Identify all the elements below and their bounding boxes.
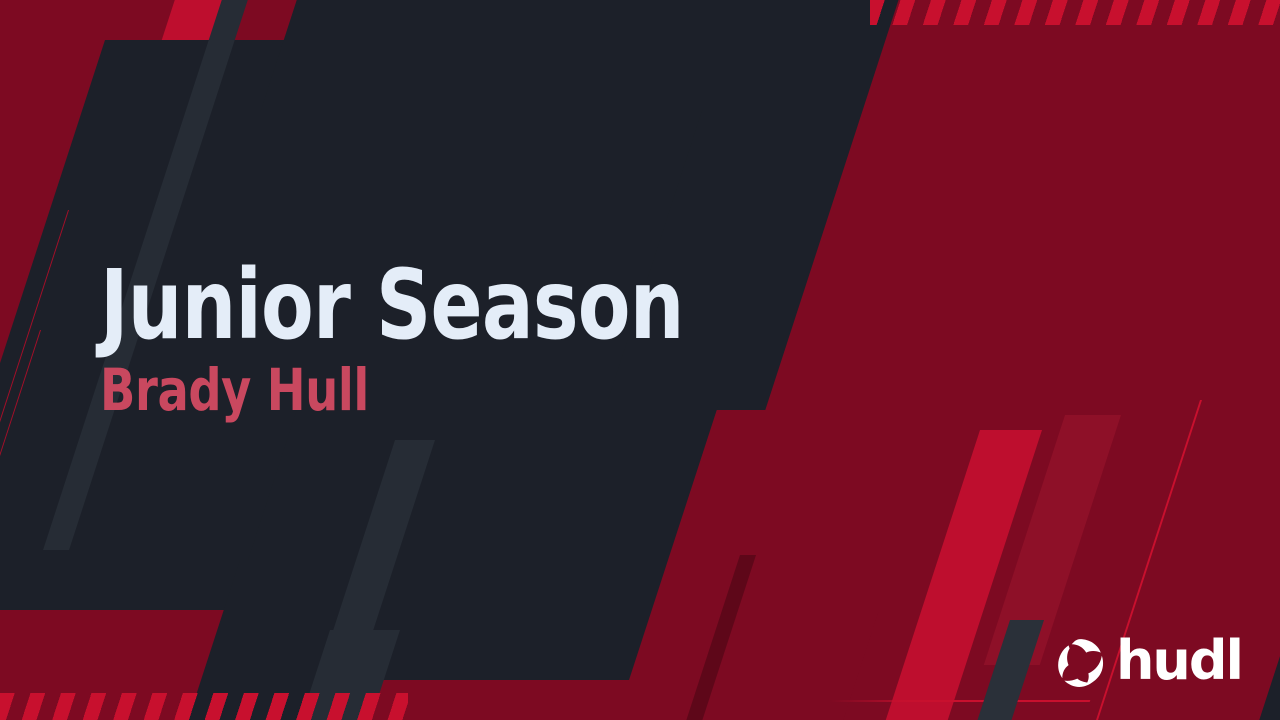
hatch-band-top-right — [870, 0, 1280, 25]
hudl-bear-icon — [1054, 637, 1106, 689]
title-slide: Junior Season Brady Hull hudl — [0, 0, 1280, 720]
slate-streak-right — [974, 620, 1044, 720]
hairline-left-upper — [0, 210, 69, 450]
page-title: Junior Season — [100, 258, 684, 352]
slate-streak-lower — [298, 630, 400, 720]
crimson-accent-band — [883, 430, 1042, 720]
title-block: Junior Season Brady Hull — [100, 258, 830, 421]
hudl-logo: hudl — [1054, 634, 1242, 692]
maroon-accent-band — [984, 415, 1121, 665]
page-subtitle: Brady Hull — [100, 360, 684, 421]
hudl-wordmark: hudl — [1116, 634, 1242, 692]
slate-streak-mid — [301, 440, 435, 720]
crimson-stripe-top-left — [152, 0, 250, 70]
maroon-band-bottom — [0, 610, 879, 720]
hatch-band-bottom-left — [0, 693, 408, 720]
hairline-horizontal — [830, 700, 1091, 702]
hairline-left-lower — [0, 330, 41, 530]
dark-accent-sliver — [686, 555, 756, 720]
navy-notch-corner — [188, 560, 360, 720]
navy-notch-lower-left — [209, 400, 720, 680]
navy-panel-top-step — [261, 0, 920, 110]
